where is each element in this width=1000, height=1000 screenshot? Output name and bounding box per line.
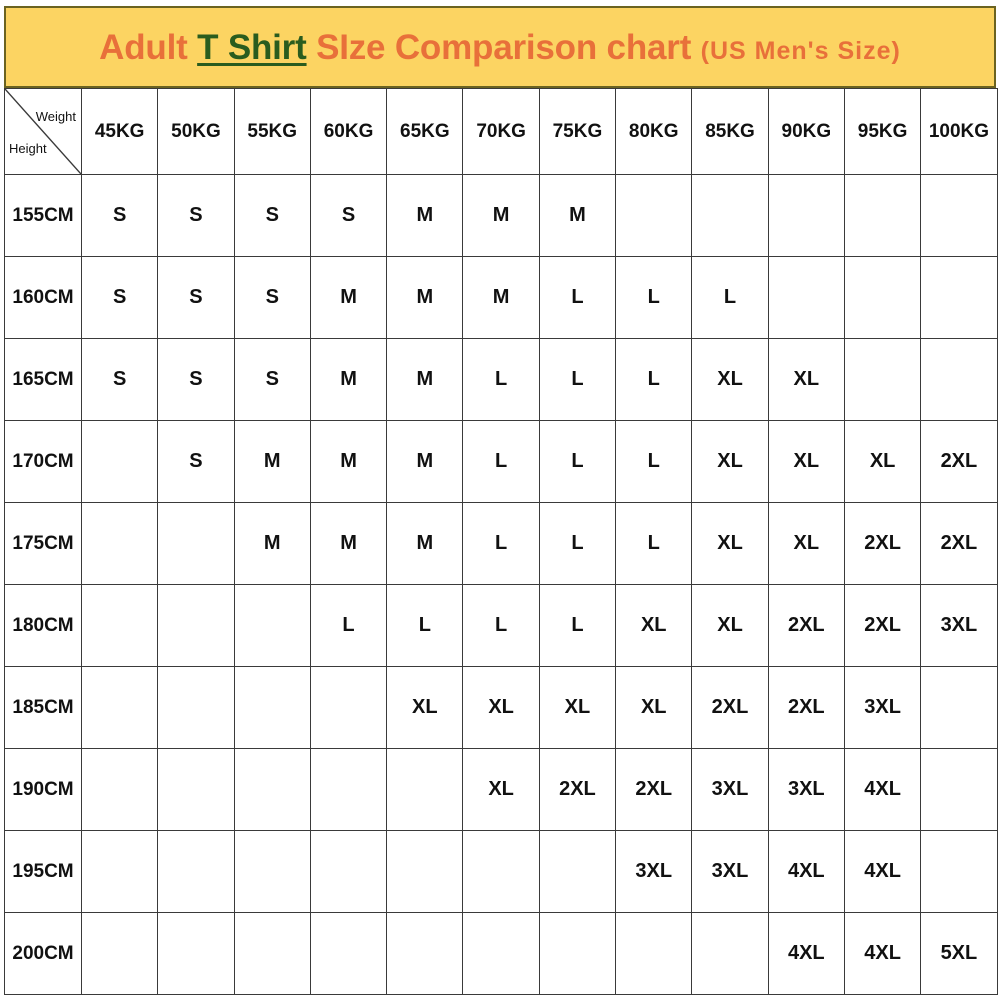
size-cell-4xl: 4XL [844, 831, 920, 913]
size-cell-m: M [387, 257, 463, 339]
size-cell-xl: XL [768, 503, 844, 585]
title-banner: Adult T Shirt SIze Comparison chart (US … [4, 6, 996, 88]
size-cell-3xl: 3XL [921, 585, 997, 667]
corner-axis-cell: Weight Height [5, 89, 82, 175]
column-header-55kg: 55KG [234, 89, 310, 175]
table-body: 155CMSSSSMMM160CMSSSMMMLLL165CMSSSMMLLLX… [5, 175, 998, 995]
size-cell-4xl: 4XL [768, 913, 844, 995]
size-cell-l: L [539, 421, 615, 503]
size-cell-empty [692, 913, 768, 995]
size-cell-2xl: 2XL [539, 749, 615, 831]
size-cell-2xl: 2XL [921, 503, 997, 585]
row-header-175cm: 175CM [5, 503, 82, 585]
size-cell-l: L [463, 421, 539, 503]
size-cell-2xl: 2XL [844, 585, 920, 667]
size-cell-xl: XL [692, 339, 768, 421]
size-cell-2xl: 2XL [921, 421, 997, 503]
size-cell-xl: XL [463, 749, 539, 831]
size-cell-empty [82, 749, 158, 831]
size-cell-s: S [310, 175, 386, 257]
table-row: 180CMLLLLXLXL2XL2XL3XL [5, 585, 998, 667]
column-header-70kg: 70KG [463, 89, 539, 175]
column-header-45kg: 45KG [82, 89, 158, 175]
size-cell-3xl: 3XL [692, 831, 768, 913]
size-cell-4xl: 4XL [768, 831, 844, 913]
title-part-adult: Adult [99, 28, 197, 67]
size-cell-s: S [158, 421, 234, 503]
size-cell-empty [82, 503, 158, 585]
size-cell-empty [82, 421, 158, 503]
size-cell-s: S [234, 257, 310, 339]
size-cell-xl: XL [387, 667, 463, 749]
column-header-90kg: 90KG [768, 89, 844, 175]
table-row: 175CMMMMLLLXLXL2XL2XL [5, 503, 998, 585]
row-header-155cm: 155CM [5, 175, 82, 257]
size-cell-s: S [158, 257, 234, 339]
title-part-comparison: SIze Comparison chart [307, 28, 701, 67]
size-cell-empty [82, 913, 158, 995]
size-cell-empty [768, 257, 844, 339]
page-title: Adult T Shirt SIze Comparison chart (US … [99, 30, 901, 65]
table-header: Weight Height 45KG 50KG 55KG 60KG 65KG 7… [5, 89, 998, 175]
column-header-95kg: 95KG [844, 89, 920, 175]
size-cell-3xl: 3XL [692, 749, 768, 831]
size-cell-xl: XL [692, 503, 768, 585]
size-cell-empty [768, 175, 844, 257]
size-cell-empty [921, 667, 997, 749]
size-cell-s: S [158, 339, 234, 421]
column-header-85kg: 85KG [692, 89, 768, 175]
size-cell-empty [158, 749, 234, 831]
row-header-170cm: 170CM [5, 421, 82, 503]
size-cell-l: L [616, 339, 692, 421]
size-cell-m: M [310, 421, 386, 503]
size-cell-xl: XL [539, 667, 615, 749]
size-cell-xl: XL [844, 421, 920, 503]
size-cell-l: L [616, 421, 692, 503]
size-cell-empty [844, 339, 920, 421]
size-cell-m: M [387, 339, 463, 421]
size-cell-4xl: 4XL [844, 749, 920, 831]
size-cell-empty [234, 913, 310, 995]
size-cell-empty [921, 175, 997, 257]
column-header-75kg: 75KG [539, 89, 615, 175]
size-cell-empty [82, 585, 158, 667]
size-cell-3xl: 3XL [844, 667, 920, 749]
size-cell-m: M [234, 421, 310, 503]
size-cell-empty [310, 749, 386, 831]
size-cell-empty [616, 913, 692, 995]
column-header-60kg: 60KG [310, 89, 386, 175]
size-cell-l: L [387, 585, 463, 667]
size-cell-empty [82, 667, 158, 749]
size-cell-xl: XL [463, 667, 539, 749]
size-cell-empty [463, 831, 539, 913]
size-cell-2xl: 2XL [768, 585, 844, 667]
header-row: Weight Height 45KG 50KG 55KG 60KG 65KG 7… [5, 89, 998, 175]
size-cell-2xl: 2XL [692, 667, 768, 749]
row-header-195cm: 195CM [5, 831, 82, 913]
size-cell-empty [158, 913, 234, 995]
size-cell-xl: XL [616, 585, 692, 667]
weight-axis-label: Weight [36, 109, 76, 124]
size-cell-xl: XL [692, 585, 768, 667]
size-cell-l: L [539, 339, 615, 421]
size-cell-empty [921, 257, 997, 339]
column-header-50kg: 50KG [158, 89, 234, 175]
size-cell-xl: XL [768, 421, 844, 503]
size-cell-l: L [310, 585, 386, 667]
size-cell-5xl: 5XL [921, 913, 997, 995]
size-cell-2xl: 2XL [844, 503, 920, 585]
size-cell-empty [844, 175, 920, 257]
size-cell-empty [387, 831, 463, 913]
column-header-80kg: 80KG [616, 89, 692, 175]
size-cell-m: M [387, 421, 463, 503]
title-part-tshirt: T Shirt [197, 28, 306, 67]
size-cell-empty [692, 175, 768, 257]
size-cell-l: L [692, 257, 768, 339]
height-axis-label: Height [9, 141, 47, 156]
size-cell-2xl: 2XL [768, 667, 844, 749]
size-comparison-table: Weight Height 45KG 50KG 55KG 60KG 65KG 7… [4, 88, 998, 995]
size-cell-3xl: 3XL [616, 831, 692, 913]
size-cell-3xl: 3XL [768, 749, 844, 831]
size-cell-xl: XL [616, 667, 692, 749]
size-cell-empty [387, 749, 463, 831]
size-cell-empty [234, 831, 310, 913]
size-cell-4xl: 4XL [844, 913, 920, 995]
table-row: 185CMXLXLXLXL2XL2XL3XL [5, 667, 998, 749]
size-cell-empty [844, 257, 920, 339]
size-cell-m: M [310, 257, 386, 339]
size-chart-page: Adult T Shirt SIze Comparison chart (US … [0, 0, 1000, 1000]
size-cell-s: S [234, 339, 310, 421]
size-cell-s: S [234, 175, 310, 257]
size-cell-empty [234, 667, 310, 749]
size-cell-l: L [463, 503, 539, 585]
size-cell-m: M [310, 339, 386, 421]
size-cell-empty [310, 667, 386, 749]
size-cell-l: L [616, 503, 692, 585]
size-cell-m: M [310, 503, 386, 585]
size-cell-l: L [539, 257, 615, 339]
size-cell-empty [158, 585, 234, 667]
table-row: 200CM4XL4XL5XL [5, 913, 998, 995]
size-cell-m: M [387, 175, 463, 257]
row-header-180cm: 180CM [5, 585, 82, 667]
size-cell-empty [158, 503, 234, 585]
size-cell-xl: XL [768, 339, 844, 421]
column-header-100kg: 100KG [921, 89, 997, 175]
size-cell-empty [921, 749, 997, 831]
size-cell-m: M [463, 175, 539, 257]
row-header-185cm: 185CM [5, 667, 82, 749]
title-subtitle: (US Men's Size) [701, 37, 901, 65]
row-header-160cm: 160CM [5, 257, 82, 339]
size-cell-empty [387, 913, 463, 995]
size-cell-empty [463, 913, 539, 995]
size-cell-l: L [616, 257, 692, 339]
size-cell-l: L [539, 503, 615, 585]
size-cell-empty [921, 339, 997, 421]
table-row: 170CMSMMMLLLXLXLXL2XL [5, 421, 998, 503]
size-cell-empty [310, 831, 386, 913]
table-row: 165CMSSSMMLLLXLXL [5, 339, 998, 421]
row-header-165cm: 165CM [5, 339, 82, 421]
size-cell-empty [616, 175, 692, 257]
size-cell-m: M [539, 175, 615, 257]
size-cell-l: L [463, 339, 539, 421]
size-cell-empty [539, 913, 615, 995]
diagonal-divider-icon [5, 89, 81, 174]
size-cell-xl: XL [692, 421, 768, 503]
table-row: 155CMSSSSMMM [5, 175, 998, 257]
size-cell-empty [158, 667, 234, 749]
size-cell-m: M [234, 503, 310, 585]
size-cell-empty [921, 831, 997, 913]
size-cell-l: L [463, 585, 539, 667]
table-row: 190CMXL2XL2XL3XL3XL4XL [5, 749, 998, 831]
size-cell-l: L [539, 585, 615, 667]
row-header-200cm: 200CM [5, 913, 82, 995]
size-cell-empty [158, 831, 234, 913]
size-cell-m: M [387, 503, 463, 585]
size-cell-empty [234, 749, 310, 831]
size-cell-empty [234, 585, 310, 667]
size-cell-2xl: 2XL [616, 749, 692, 831]
size-cell-s: S [82, 257, 158, 339]
size-cell-empty [310, 913, 386, 995]
row-header-190cm: 190CM [5, 749, 82, 831]
size-cell-s: S [82, 339, 158, 421]
size-cell-empty [539, 831, 615, 913]
table-row: 195CM3XL3XL4XL4XL [5, 831, 998, 913]
size-cell-empty [82, 831, 158, 913]
size-cell-s: S [82, 175, 158, 257]
table-row: 160CMSSSMMMLLL [5, 257, 998, 339]
size-cell-m: M [463, 257, 539, 339]
column-header-65kg: 65KG [387, 89, 463, 175]
size-cell-s: S [158, 175, 234, 257]
